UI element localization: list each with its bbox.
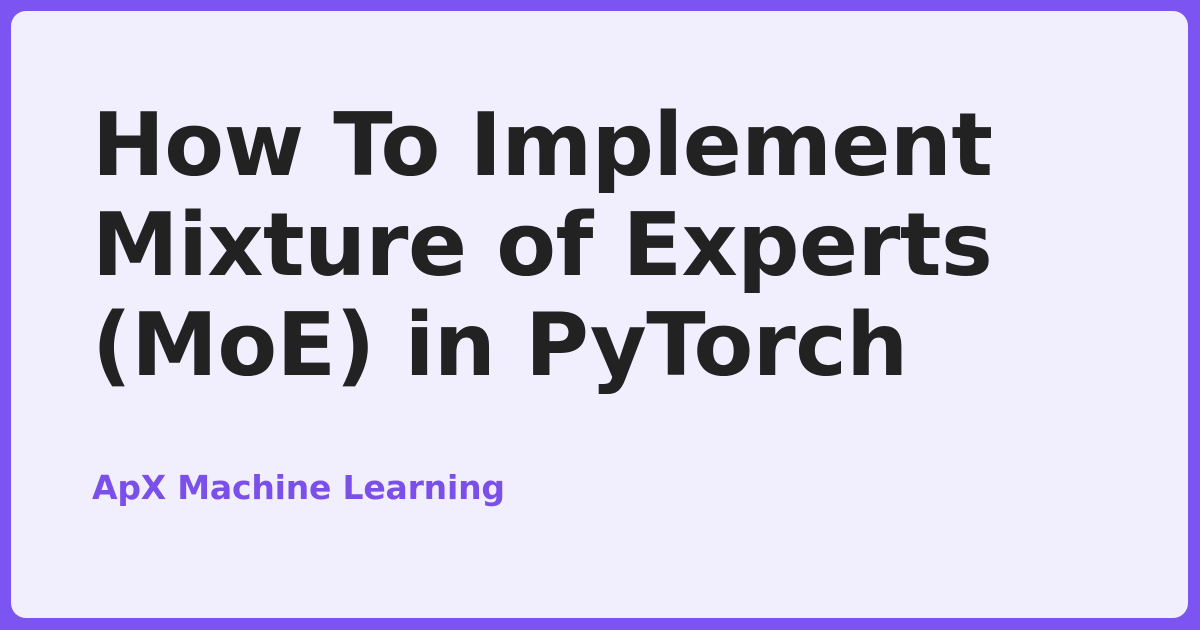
og-image-card: How To Implement Mixture of Experts (MoE…	[0, 0, 1200, 630]
site-name: ApX Machine Learning	[92, 468, 1148, 508]
content-block: How To Implement Mixture of Experts (MoE…	[92, 11, 1148, 618]
card-panel: How To Implement Mixture of Experts (MoE…	[11, 11, 1188, 618]
page-title: How To Implement Mixture of Experts (MoE…	[92, 95, 1112, 395]
